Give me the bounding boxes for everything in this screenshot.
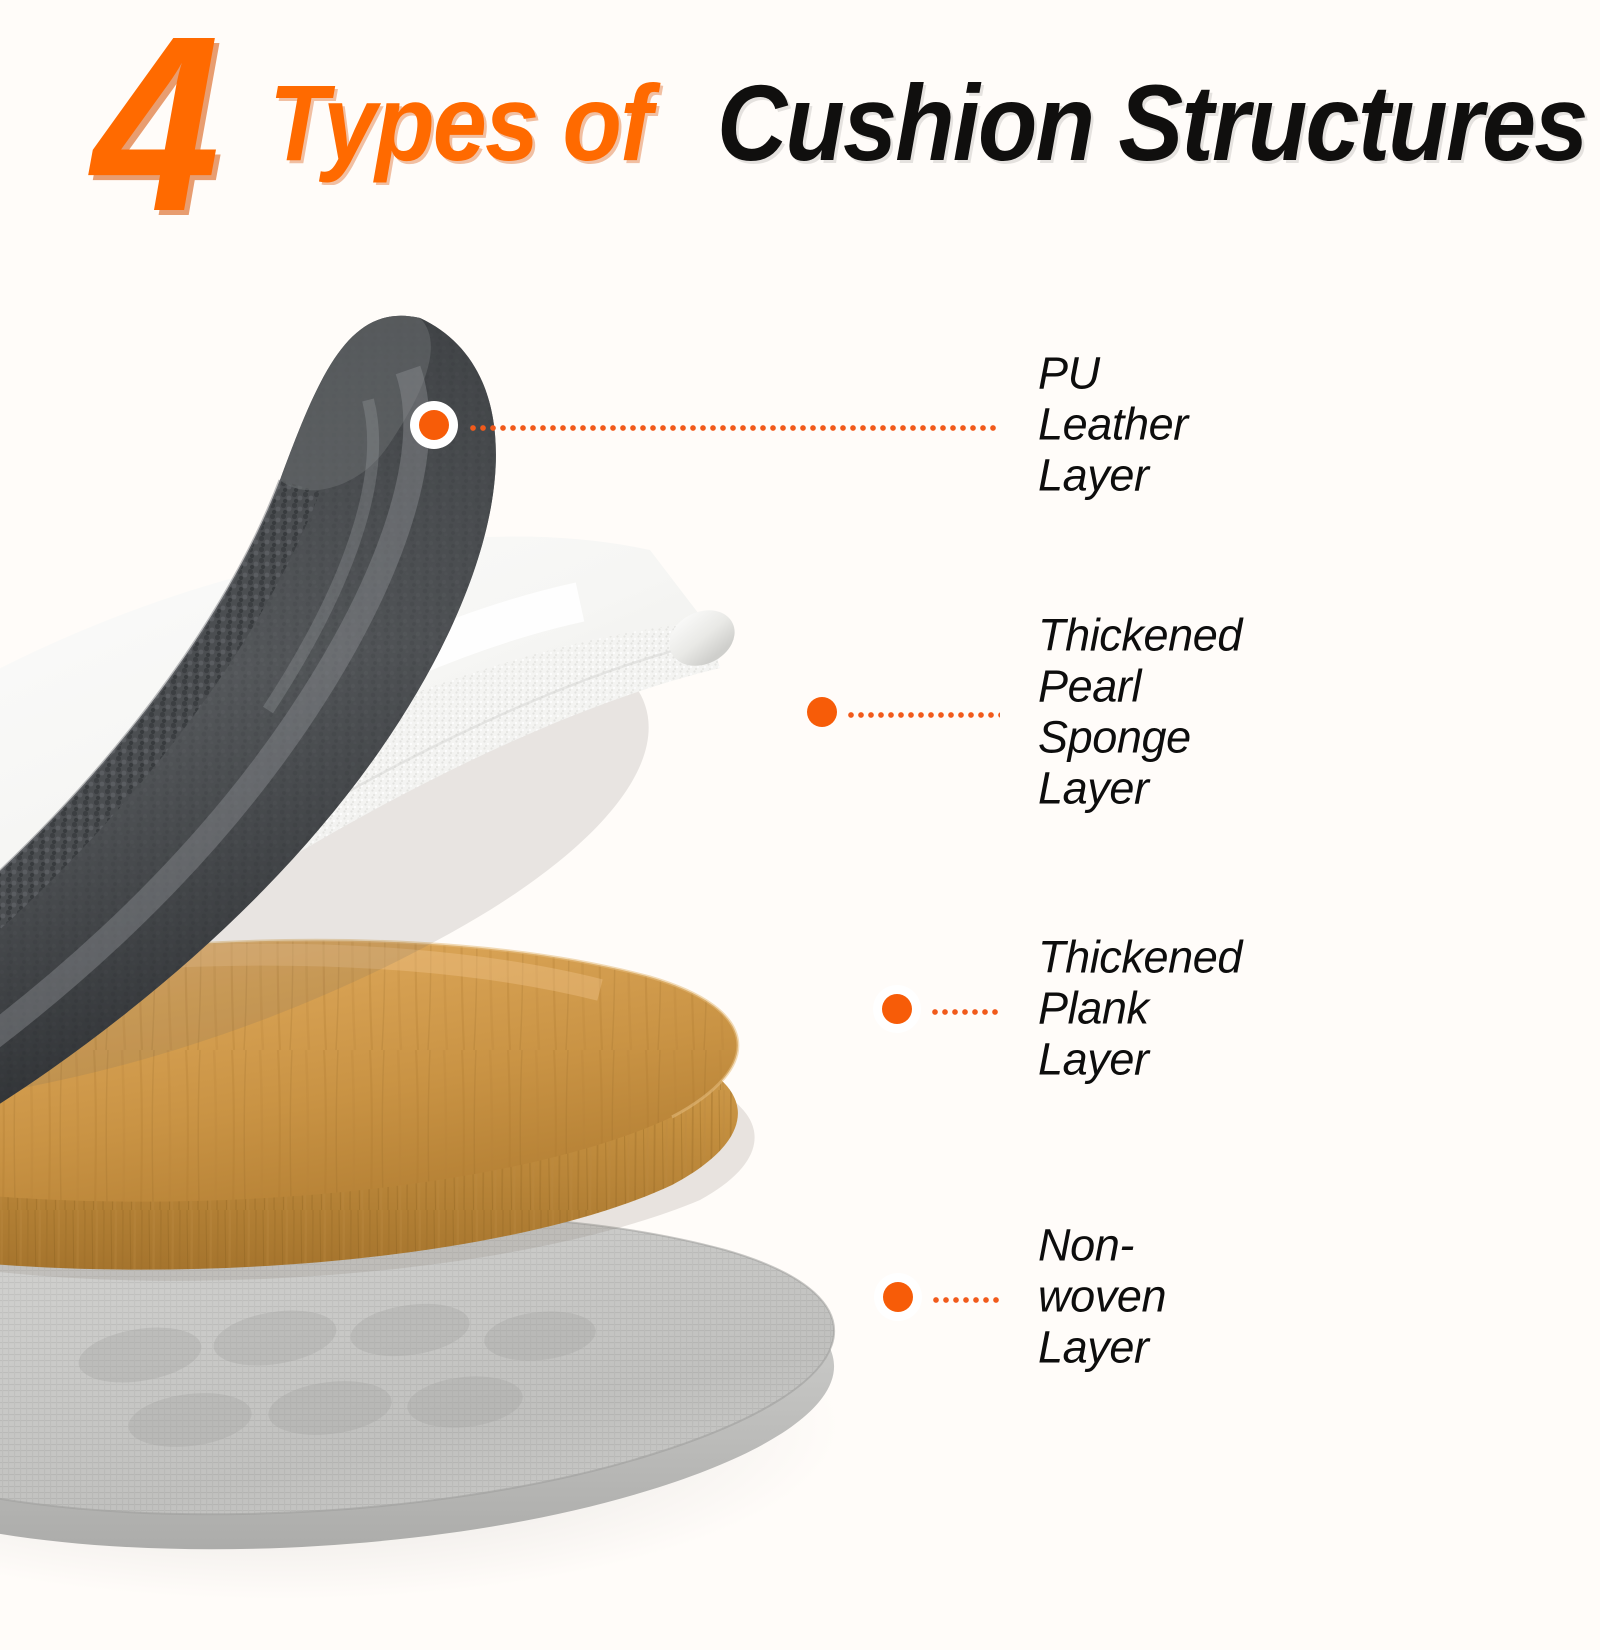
infographic-canvas: 4 Types of Cushion Structures [0,0,1600,1600]
callout-label-non-woven: Non-woven Layer [1038,1221,1166,1374]
cushion-layers-illustration [0,250,1050,1650]
callout-label-pearl-sponge: Thickened Pearl Sponge Layer [1038,610,1242,813]
headline-main: Cushion Structures [717,69,1587,177]
callout-dot-pearl-sponge[interactable] [807,697,837,727]
headline-highlight: Types of [269,69,651,177]
callout-dot-non-woven[interactable] [883,1282,913,1312]
leader-line-pu-leather [470,425,1000,431]
leader-line-thickened-plank [932,1009,1000,1015]
leader-line-non-woven [933,1297,1000,1303]
callout-dot-thickened-plank[interactable] [882,994,912,1024]
callout-dot-pu-leather[interactable] [419,410,449,440]
page-title: 4 Types of Cushion Structures [92,28,1572,218]
leader-line-pearl-sponge [848,712,1000,718]
headline-count: 4 [92,21,211,226]
callout-label-thickened-plank: Thickened Plank Layer [1038,933,1242,1086]
callout-label-pu-leather: PU Leather Layer [1038,349,1188,502]
